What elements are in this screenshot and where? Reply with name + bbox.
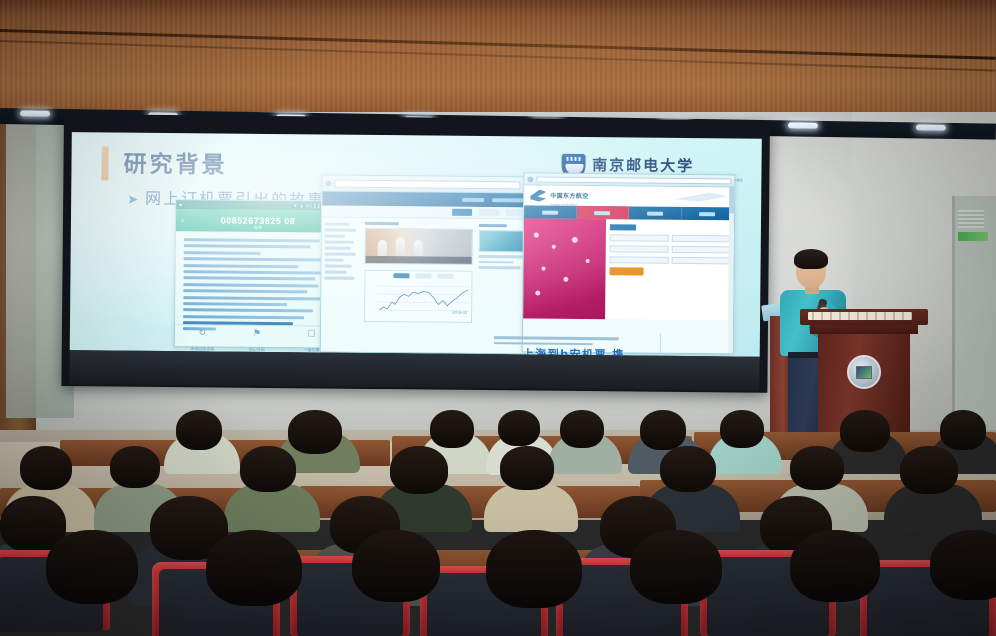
audience-person-head xyxy=(560,410,604,448)
audience-person-head xyxy=(500,446,554,490)
audience-person-head xyxy=(498,410,540,446)
text-line xyxy=(184,238,320,242)
ceiling-lamp xyxy=(916,124,946,130)
swallow-logo-icon xyxy=(530,189,546,201)
chart-tab xyxy=(415,273,431,278)
audience-area xyxy=(0,380,996,636)
text-line xyxy=(183,283,318,287)
chart-date-label: 2019-03 xyxy=(452,310,467,315)
airplane-graphic-icon xyxy=(674,191,728,204)
nav-item-promo xyxy=(577,206,630,220)
text-line xyxy=(183,289,307,293)
title-accent-bar xyxy=(101,146,108,180)
text-line xyxy=(183,308,313,312)
chart-tabs xyxy=(393,273,453,279)
arrival-city-field xyxy=(671,235,730,243)
audience-person-body xyxy=(484,484,578,532)
cabin-class-field xyxy=(671,257,730,265)
status-left: ■ xyxy=(179,202,182,207)
content-divider xyxy=(659,334,661,357)
booking-widget xyxy=(605,219,734,320)
url-bar xyxy=(334,179,520,189)
ceiling-wood-panel xyxy=(0,0,996,118)
projection-screen: 研究背景 ➤网上订机票引出的故事 南京邮电大学 NANJING UNIVERSI… xyxy=(61,114,770,393)
exit-sign xyxy=(958,232,988,241)
return-date-field xyxy=(671,246,730,254)
audience-person-head xyxy=(930,530,996,600)
text-line xyxy=(183,302,287,306)
bullet-arrow-icon: ➤ xyxy=(127,193,140,208)
departure-city-field xyxy=(610,234,669,242)
audience-person-head xyxy=(660,446,716,492)
audience-person-head xyxy=(288,410,342,454)
university-name-cn: 南京邮电大学 xyxy=(592,156,694,175)
phone-action-bar: ↻ 申请回拨咨询 ⚑ 标记号码 ☐ 一键拉黑 xyxy=(175,324,339,348)
ceiling-lamp xyxy=(20,110,50,116)
audience-person-head xyxy=(900,446,958,494)
browser-back-icon xyxy=(527,176,533,182)
audience-person-head xyxy=(176,410,222,450)
podium-carving xyxy=(808,312,912,320)
promo-banner xyxy=(523,218,606,319)
shield-stars-icon xyxy=(566,157,582,161)
text-line xyxy=(184,251,261,255)
audience-person-head xyxy=(630,530,722,604)
portal-main-column: 2019-03 xyxy=(361,218,476,353)
speaker-hair xyxy=(794,249,828,269)
audience-person-head xyxy=(20,446,72,490)
scrollbar xyxy=(728,187,735,353)
section-heading xyxy=(365,222,399,225)
audience-person-head xyxy=(640,410,686,450)
field-row xyxy=(610,234,730,242)
nav-item xyxy=(682,207,735,221)
text-line xyxy=(184,257,325,261)
audience-person-head xyxy=(940,410,986,450)
audience-person-head xyxy=(352,530,440,602)
portal-browser-screenshot: 2019-03 xyxy=(320,174,534,354)
chart-tab xyxy=(437,274,453,279)
tab xyxy=(479,209,499,216)
audience-person-head xyxy=(390,446,448,494)
airline-logo: 中国东方航空 CHINA EASTERN xyxy=(530,184,589,207)
recommend-thumbnail xyxy=(479,230,529,252)
news-photo xyxy=(365,228,473,265)
stock-line-chart: 2019-03 xyxy=(364,270,472,323)
browser-chrome xyxy=(322,175,532,193)
wall-vent xyxy=(958,210,984,228)
field-row xyxy=(610,256,730,264)
lecture-hall-photo: 研究背景 ➤网上订机票引出的故事 南京邮电大学 NANJING UNIVERSI… xyxy=(0,0,996,636)
ceiling-seam xyxy=(0,40,996,72)
airline-website-screenshot: 中国东方航空 CHINA EASTERN xyxy=(522,172,736,354)
presentation-slide: 研究背景 ➤网上订机票引出的故事 南京邮电大学 NANJING UNIVERSI… xyxy=(70,132,762,357)
audience-person-head xyxy=(206,530,302,606)
podium-top xyxy=(800,309,928,325)
text-line xyxy=(183,276,315,280)
audience-person-head xyxy=(110,446,160,488)
phone-callback-icon: ↻ 申请回拨咨询 xyxy=(175,325,230,347)
text-line xyxy=(184,264,299,268)
report-icon: ⚑ 标记号码 xyxy=(229,326,284,348)
audience-person-head xyxy=(840,410,890,452)
audience-person-head xyxy=(430,410,474,448)
audience-person-head xyxy=(790,446,844,490)
phone-screenshot: ■ ▼ ▲ 4G ▎▎ 20:04 ‹ 00852673825 08 香港 ⋮ xyxy=(174,199,341,349)
nav-item xyxy=(629,206,682,220)
podium-neck xyxy=(810,325,918,334)
photo-caption xyxy=(366,256,472,264)
portal-left-sidebar xyxy=(321,217,362,351)
tab-active xyxy=(452,209,472,216)
search-button xyxy=(609,267,643,275)
ceiling-lamp xyxy=(788,122,818,128)
url-bar xyxy=(536,176,731,184)
text-line xyxy=(183,296,325,300)
chart-tab-active xyxy=(393,273,409,278)
nav-item xyxy=(492,198,526,202)
field-row xyxy=(610,245,730,253)
nav-item xyxy=(524,205,577,219)
slide-title: 研究背景 xyxy=(123,145,227,180)
audience-person-head xyxy=(486,530,582,608)
text-line xyxy=(183,270,321,274)
audience-person-head xyxy=(240,446,296,492)
audience-person-head xyxy=(790,530,880,602)
text-line xyxy=(184,245,311,249)
section-heading xyxy=(479,224,507,227)
nav-item xyxy=(462,198,484,202)
text-line xyxy=(183,315,304,319)
audience-person-head xyxy=(46,530,138,604)
depart-date-field xyxy=(610,245,669,253)
browser-back-icon xyxy=(325,180,331,186)
ceiling-seam xyxy=(0,29,996,60)
airline-name-cn: 中国东方航空 xyxy=(550,194,588,200)
airline-brand-bar: 中国东方航空 CHINA EASTERN xyxy=(524,185,734,207)
phone-sublabel: 香港 xyxy=(176,224,340,232)
audience-person-head xyxy=(720,410,764,448)
phone-call-header: ‹ 00852673825 08 香港 ⋮ xyxy=(176,209,340,233)
trip-tab-oneway xyxy=(610,224,636,230)
passenger-field xyxy=(610,256,669,264)
airline-body xyxy=(523,218,734,320)
portal-content: 2019-03 xyxy=(321,217,532,353)
